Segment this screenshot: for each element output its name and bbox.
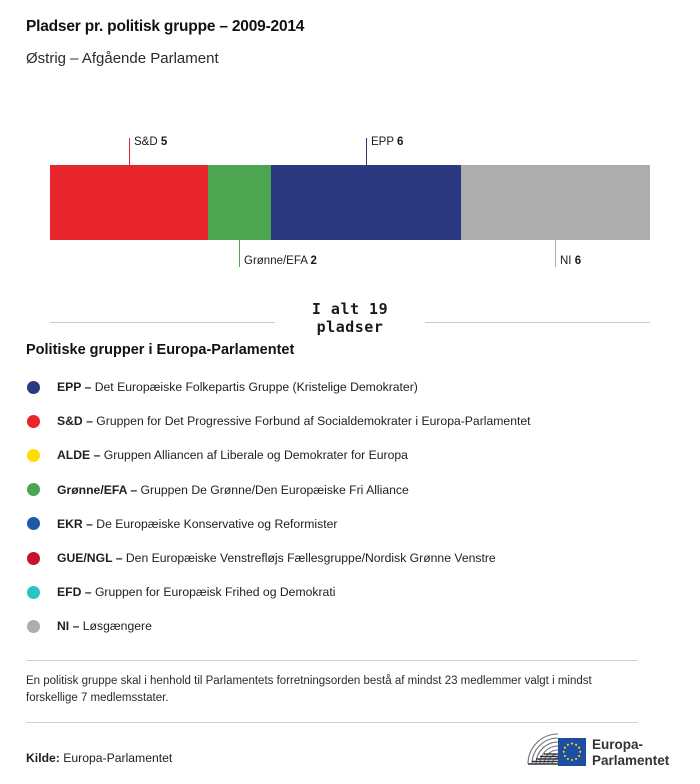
legend-item: EPP – Det Europæiske Folkepartis Gruppe … [26,370,666,404]
callout-seat-count: 2 [310,255,316,267]
legend-color-dot-icon [27,620,40,633]
source-label: Kilde: [26,751,60,765]
infographic-page: Pladser pr. politisk gruppe – 2009-2014 … [0,0,700,784]
legend-item-description: Gruppen for Europæisk Frihed og Demokrat… [95,585,335,599]
callout-group-name: NI [560,255,575,267]
legend-item: S&D – Gruppen for Det Progressive Forbun… [26,404,666,438]
callout-group-name: Grønne/EFA [244,255,310,267]
bar-segment-s-d [50,165,208,240]
total-seats-block: I alt 19 pladser [0,300,700,342]
callout-label-gr-nne-efa: Grønne/EFA 2 [244,256,317,268]
legend-color-dot-icon [27,483,40,496]
legend-item-abbr: S&D – [57,414,96,428]
eu-flag-icon [558,738,586,766]
footnote-rule-bottom [26,722,638,723]
bar-segment-gr-nne-efa [208,165,271,240]
legend-item-text: GUE/NGL – Den Europæiske Venstrefløjs Fæ… [57,551,496,565]
legend-item-description: Den Europæiske Venstrefløjs Fællesgruppe… [126,551,496,565]
legend-item-text: Grønne/EFA – Gruppen De Grønne/Den Europ… [57,483,409,497]
legend-item-description: Løsgængere [83,619,152,633]
callout-label-epp: EPP 6 [371,137,403,149]
callout-leader-gr-nne-efa [239,240,240,267]
legend-item-abbr: NI – [57,619,83,633]
legend-item: ALDE – Gruppen Alliancen af Liberale og … [26,438,666,472]
legend-item-abbr: EKR – [57,517,96,531]
political-groups-legend: EPP – Det Europæiske Folkepartis Gruppe … [26,370,666,644]
legend-item-abbr: GUE/NGL – [57,551,126,565]
legend-item-description: Gruppen for Det Progressive Forbund af S… [96,414,530,428]
page-title: Pladser pr. politisk gruppe – 2009-2014 [26,18,304,36]
callout-label-ni: NI 6 [560,256,581,268]
legend-item-abbr: ALDE – [57,448,104,462]
legend-item-text: NI – Løsgængere [57,619,152,633]
legend-item: Grønne/EFA – Gruppen De Grønne/Den Europ… [26,473,666,507]
callout-group-name: S&D [134,136,161,148]
callout-leader-s-d [129,138,130,165]
legend-item-abbr: EFD – [57,585,95,599]
legend-item-description: Gruppen Alliancen af Liberale og Demokra… [104,448,408,462]
callout-seat-count: 5 [161,136,167,148]
european-parliament-logo: Europa- Parlamentet [512,728,674,774]
legend-item: GUE/NGL – Den Europæiske Venstrefløjs Fæ… [26,541,666,575]
legend-item: NI – Løsgængere [26,609,666,643]
callout-seat-count: 6 [575,255,581,267]
source-value: Europa-Parlamentet [63,751,172,765]
callout-leader-ni [555,240,556,267]
page-subtitle: Østrig – Afgående Parlament [26,50,219,67]
total-seats-line1: I alt 19 [0,300,700,318]
callout-label-s-d: S&D 5 [134,137,167,149]
callout-leader-epp [366,138,367,165]
stacked-bar [50,165,650,240]
legend-item-abbr: Grønne/EFA – [57,483,141,497]
legend-color-dot-icon [27,415,40,428]
legend-color-dot-icon [27,586,40,599]
seats-stacked-bar-chart [50,165,650,240]
footnote-text: En politisk gruppe skal i henhold til Pa… [26,673,640,707]
legend-item-text: EPP – Det Europæiske Folkepartis Gruppe … [57,380,418,394]
svg-text:Parlamentet: Parlamentet [592,753,670,768]
bar-segment-epp [271,165,460,240]
legend-item-description: Gruppen De Grønne/Den Europæiske Fri All… [141,483,409,497]
total-seats-line2: pladser [0,318,700,336]
legend-color-dot-icon [27,517,40,530]
total-seats-text: I alt 19 pladser [0,300,700,336]
legend-title: Politiske grupper i Europa-Parlamentet [26,342,294,358]
legend-item-abbr: EPP – [57,380,95,394]
svg-text:Europa-: Europa- [592,737,643,752]
callout-group-name: EPP [371,136,397,148]
legend-item-text: EKR – De Europæiske Konservative og Refo… [57,517,337,531]
legend-color-dot-icon [27,449,40,462]
legend-item: EKR – De Europæiske Konservative og Refo… [26,507,666,541]
legend-item-description: Det Europæiske Folkepartis Gruppe (Krist… [95,380,418,394]
footnote-rule-top [26,660,638,661]
bar-segment-ni [461,165,650,240]
legend-item-description: De Europæiske Konservative og Reformiste… [96,517,337,531]
legend-item-text: EFD – Gruppen for Europæisk Frihed og De… [57,585,335,599]
callout-seat-count: 6 [397,136,403,148]
legend-item-text: ALDE – Gruppen Alliancen af Liberale og … [57,448,408,462]
legend-color-dot-icon [27,552,40,565]
legend-item: EFD – Gruppen for Europæisk Frihed og De… [26,575,666,609]
legend-item-text: S&D – Gruppen for Det Progressive Forbun… [57,414,531,428]
source-line: Kilde: Europa-Parlamentet [26,751,172,765]
legend-color-dot-icon [27,381,40,394]
